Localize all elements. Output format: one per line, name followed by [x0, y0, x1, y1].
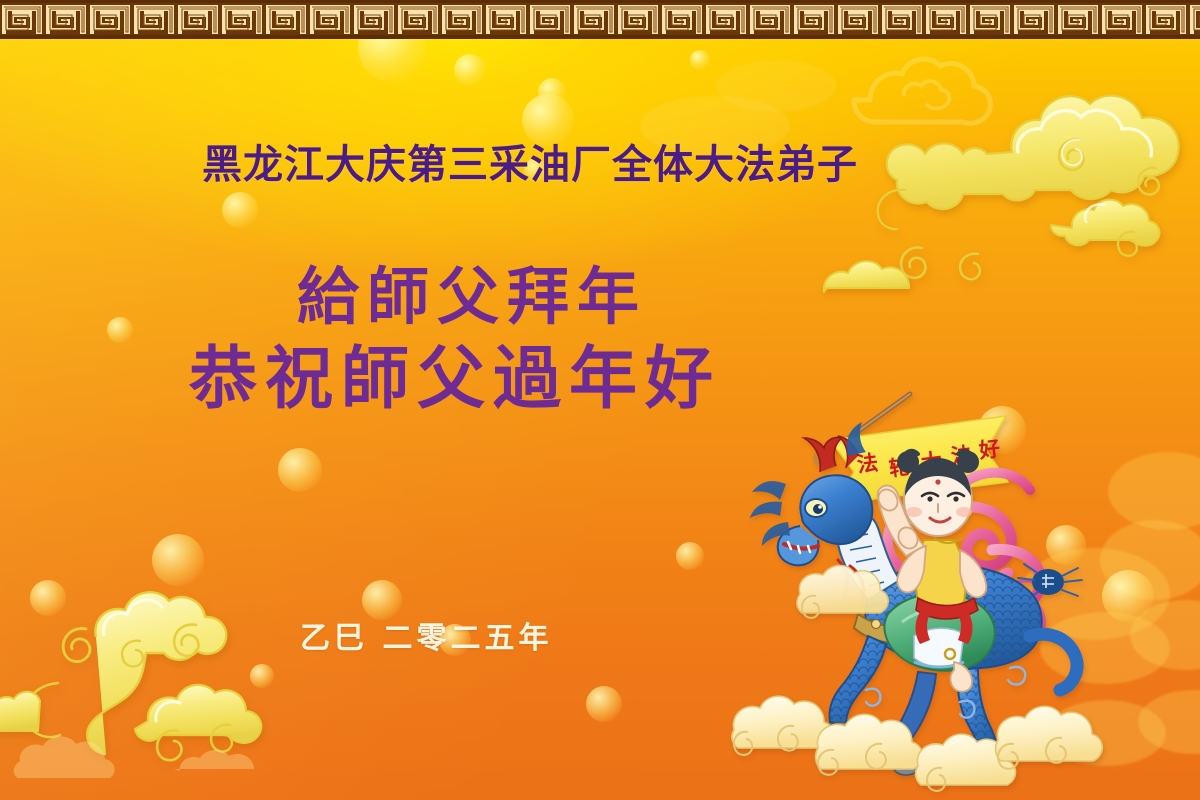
greeting-block: 給師父拜年 恭祝師父過年好 [0, 266, 1000, 414]
greeting-card: 黑龙江大庆第三采油厂全体大法弟子 給師父拜年 恭祝師父過年好 乙巳 二零二五年 [0, 0, 1200, 800]
banner-char-5: 好 [977, 437, 1002, 464]
greeting-line-2: 恭祝師父過年好 [0, 346, 1000, 414]
bokeh-dot [538, 78, 566, 106]
border-top-rule [0, 0, 1200, 3]
bokeh-dot [278, 448, 322, 492]
greeting-line-1: 給師父拜年 [0, 266, 1000, 328]
bokeh-dot [454, 54, 486, 86]
bokeh-dot [690, 50, 710, 70]
sender-line: 黑龙江大庆第三采油厂全体大法弟子 [0, 132, 1060, 190]
cloud-decoration-bottom-left [0, 565, 340, 800]
bokeh-dot [676, 542, 704, 570]
bokeh-dot [222, 192, 258, 228]
bokeh-dot [586, 686, 622, 722]
date-line: 乙巳 二零二五年 [300, 613, 552, 657]
decorative-top-border [0, 0, 1200, 39]
banner-char-1: 法 [856, 451, 880, 477]
border-bottom-rule [0, 35, 1200, 39]
child-riding-dragon-illustration: 法 轮 大 法 好 [742, 400, 1122, 800]
